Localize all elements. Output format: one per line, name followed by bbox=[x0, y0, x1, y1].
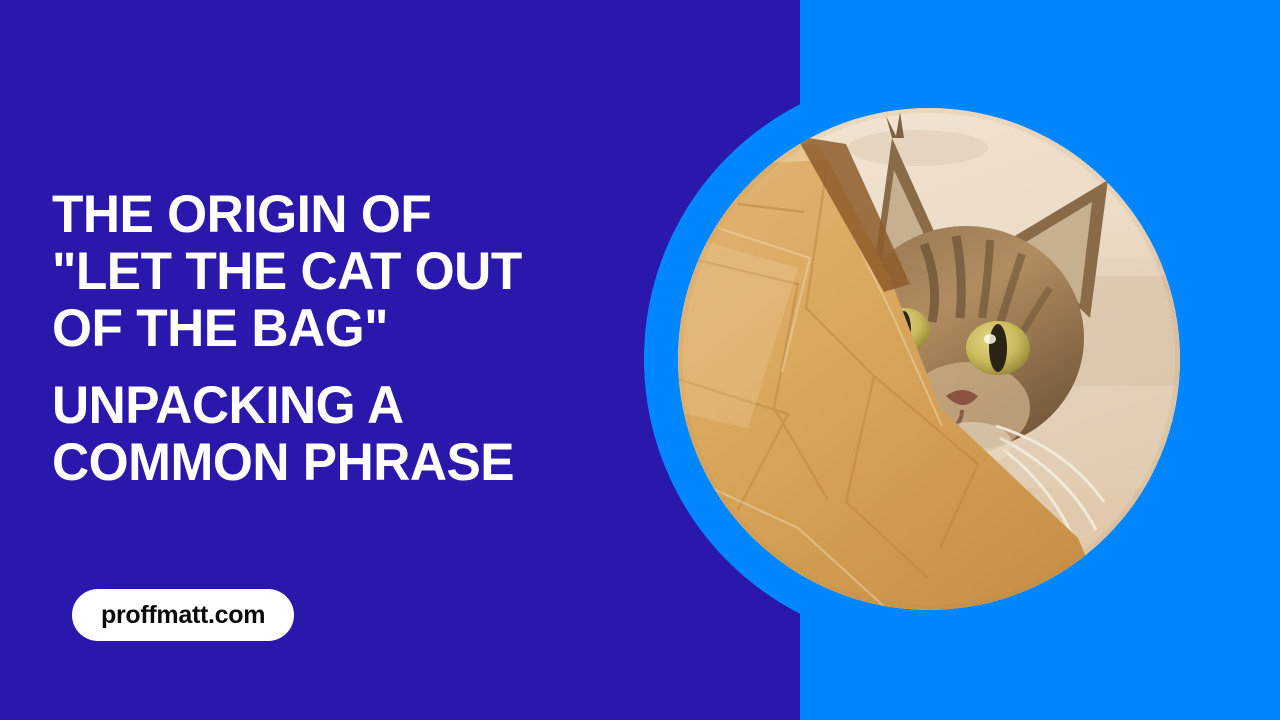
website-url-badge[interactable]: proffmatt.com bbox=[72, 589, 294, 641]
subheadline-line-2: COMMON PHRASE bbox=[52, 434, 634, 491]
page-title: THE ORIGIN OF "LET THE CAT OUT OF THE BA… bbox=[52, 186, 634, 357]
headline-line-2: "LET THE CAT OUT bbox=[52, 243, 634, 300]
headline-line-1: THE ORIGIN OF bbox=[52, 186, 634, 243]
poster-canvas: THE ORIGIN OF "LET THE CAT OUT OF THE BA… bbox=[0, 0, 1280, 720]
subheadline-line-1: UNPACKING A bbox=[52, 377, 634, 434]
text-block: THE ORIGIN OF "LET THE CAT OUT OF THE BA… bbox=[52, 186, 652, 491]
kitten-photo-illustration bbox=[678, 108, 1180, 610]
page-subtitle: UNPACKING A COMMON PHRASE bbox=[52, 377, 634, 491]
website-url-label: proffmatt.com bbox=[101, 603, 265, 628]
headline-line-3: OF THE BAG" bbox=[52, 300, 634, 357]
kitten-photo-circle bbox=[678, 108, 1180, 610]
